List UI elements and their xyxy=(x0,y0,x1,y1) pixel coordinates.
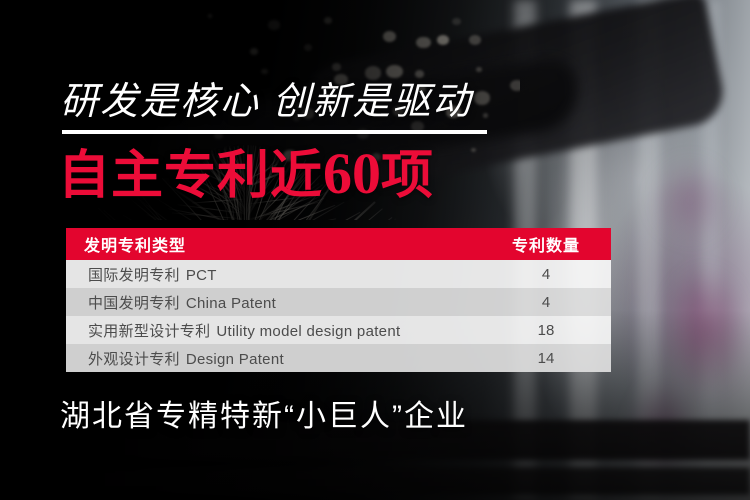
table-cell-type: 外观设计专利Design Patent xyxy=(66,348,481,369)
table-cell-type-en: Design Patent xyxy=(186,351,284,368)
page-title-number: 60 xyxy=(323,141,381,206)
table-header-type: 发明专利类型 xyxy=(66,232,481,256)
page-title-prefix: 自主专利近 xyxy=(58,147,323,205)
table-cell-count: 4 xyxy=(481,266,611,283)
table-cell-count: 14 xyxy=(481,350,611,367)
patent-table: 发明专利类型 专利数量 国际发明专利PCT 4 中国发明专利China Pate… xyxy=(66,228,611,372)
page-headline: 研发是核心 创新是驱动 xyxy=(60,80,473,124)
table-cell-type-cn: 实用新型设计专利 xyxy=(88,323,210,340)
table-row: 外观设计专利Design Patent 14 xyxy=(66,344,611,372)
table-cell-type-en: PCT xyxy=(186,267,217,284)
table-cell-type: 国际发明专利PCT xyxy=(66,264,481,285)
table-row: 国际发明专利PCT 4 xyxy=(66,260,611,288)
table-row: 中国发明专利China Patent 4 xyxy=(66,288,611,316)
table-header-row: 发明专利类型 专利数量 xyxy=(66,228,611,260)
page-caption: 湖北省专精特新“小巨人”企业 xyxy=(60,398,468,436)
table-cell-count: 4 xyxy=(481,294,611,311)
table-row: 实用新型设计专利Utility model design patent 18 xyxy=(66,316,611,344)
headline-divider xyxy=(62,130,487,134)
table-cell-count: 18 xyxy=(481,322,611,339)
table-header-count: 专利数量 xyxy=(481,232,611,256)
table-cell-type-en: Utility model design patent xyxy=(216,323,400,340)
page-title-suffix: 项 xyxy=(381,147,434,205)
table-cell-type: 中国发明专利China Patent xyxy=(66,292,481,313)
patent-poster: 研发是核心 创新是驱动 自主专利近60项 发明专利类型 专利数量 国际发明专利P… xyxy=(0,0,750,500)
table-cell-type-cn: 国际发明专利 xyxy=(88,267,180,284)
page-title: 自主专利近60项 xyxy=(58,145,434,205)
table-cell-type-cn: 中国发明专利 xyxy=(88,295,180,312)
table-cell-type: 实用新型设计专利Utility model design patent xyxy=(66,320,481,341)
table-cell-type-cn: 外观设计专利 xyxy=(88,351,180,368)
table-cell-type-en: China Patent xyxy=(186,295,276,312)
